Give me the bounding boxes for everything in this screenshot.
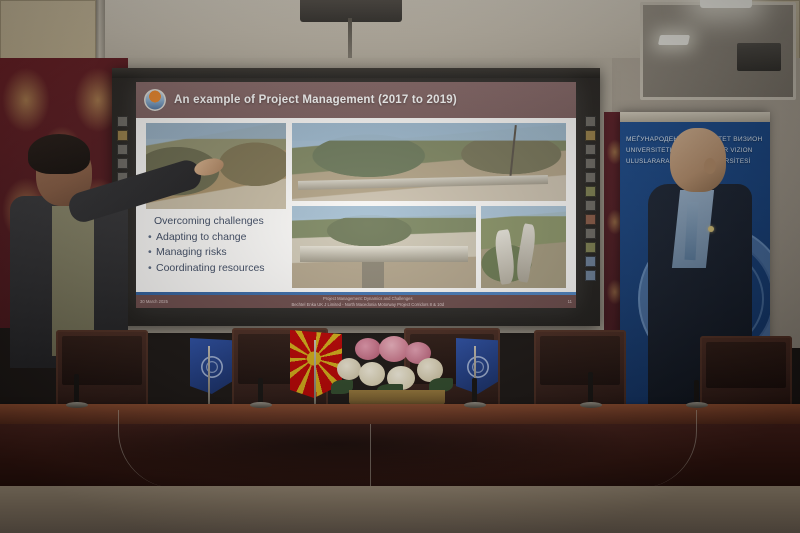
flower-bloom [359, 362, 385, 386]
flag-pole [208, 346, 210, 412]
flag-emblem-icon [201, 356, 223, 378]
pier [362, 262, 384, 288]
equipment-silhouette [737, 43, 781, 71]
crane-icon [509, 125, 517, 179]
tool-button[interactable] [585, 228, 596, 239]
microphone [588, 372, 593, 406]
slide-footer-project: Bechtel Enka UK J Limited - North Macedo… [291, 302, 444, 307]
slide-page-number: 11 [568, 299, 572, 304]
tool-button[interactable] [585, 158, 596, 169]
lapel-pin-icon [708, 226, 714, 232]
slide-photo-bridge-deck-girders [292, 206, 476, 288]
floor [0, 486, 800, 533]
tool-button[interactable] [585, 116, 596, 127]
ceiling-light [700, 0, 752, 8]
flower-arrangement [325, 336, 465, 410]
slide-footer-center: Project Management: Dynamics and Challen… [291, 296, 444, 307]
tool-button[interactable] [585, 256, 596, 267]
flag-emblem-icon [467, 356, 489, 378]
microphone-base [250, 402, 272, 408]
attendee-head [670, 128, 726, 192]
bridge-deck [298, 175, 548, 190]
attendee-ear [704, 158, 716, 174]
tool-button[interactable] [585, 130, 596, 141]
tool-button[interactable] [585, 200, 596, 211]
tool-button[interactable] [585, 214, 596, 225]
flag-pole [314, 340, 316, 412]
project-logo-icon [144, 89, 166, 111]
tool-button[interactable] [117, 116, 128, 127]
girder [300, 246, 468, 262]
tool-button[interactable] [585, 144, 596, 155]
smartboard-top-rail [112, 68, 600, 78]
slide-photo-completed-motorway-curve [481, 206, 566, 288]
microphone-base [686, 402, 708, 408]
flower-bloom [355, 338, 381, 360]
slide-title-bar: An example of Project Management (2017 t… [136, 82, 576, 118]
fluorescent-light-icon [658, 35, 690, 45]
motorway-curve [514, 223, 538, 283]
tool-button[interactable] [585, 242, 596, 253]
motorway-curve [493, 229, 516, 285]
chair[interactable] [534, 330, 626, 408]
slide-footer-subject: Project Management: Dynamics and Challen… [323, 296, 413, 301]
interior-window [640, 2, 796, 100]
banner-top-rail [620, 112, 770, 122]
slide-photo-viaduct-construction-panorama [292, 123, 566, 201]
tool-button[interactable] [585, 270, 596, 281]
microphone-base [580, 402, 602, 408]
smartboard-right-toolbar[interactable] [583, 116, 597, 281]
microphone-base [66, 402, 88, 408]
presenter-hair [28, 134, 90, 174]
tool-button[interactable] [585, 186, 596, 197]
presentation-photo-scene: МЕЃУНАРОДЕН УНИВЕРЗИТЕТ ВИЗИОН UNIVERSIT… [0, 0, 800, 533]
tool-button[interactable] [585, 172, 596, 183]
slide-title: An example of Project Management (2017 t… [174, 94, 457, 106]
chair[interactable] [700, 336, 792, 410]
chair[interactable] [56, 330, 148, 408]
microphone-base [464, 402, 486, 408]
flower-bloom [337, 358, 361, 380]
